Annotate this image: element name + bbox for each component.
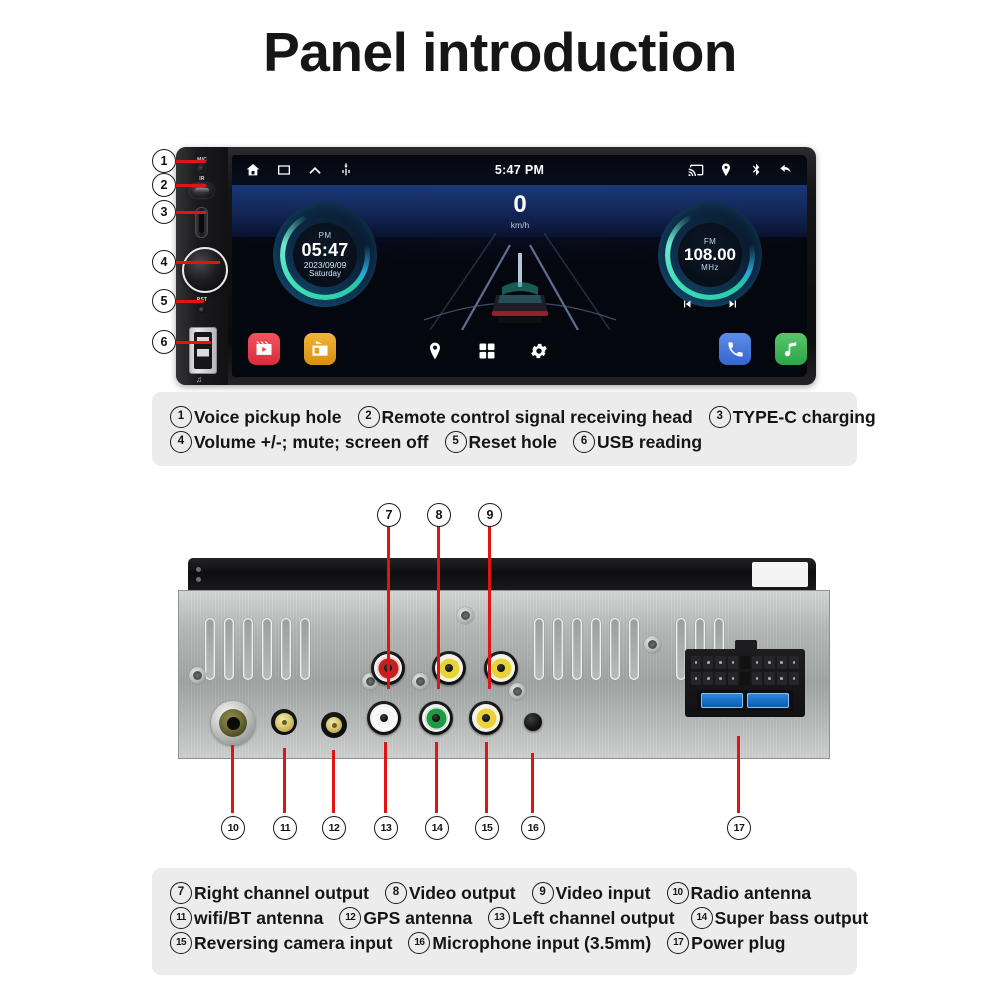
leader-15 — [485, 742, 488, 813]
caption-num-2: 2 — [358, 406, 380, 428]
caption-item-8: 8 Video output — [385, 882, 516, 904]
rear-caption-line-3: 15 Reversing camera input 16 Microphone … — [170, 932, 839, 954]
leader-5 — [176, 300, 204, 303]
leader-1 — [176, 160, 206, 163]
rear-top-strip — [188, 558, 816, 591]
music-app-icon[interactable] — [775, 333, 807, 365]
radio-widget[interactable]: FM 108.00 MHz — [658, 203, 762, 307]
app-dock — [232, 319, 807, 377]
clock-meridiem: PM — [319, 232, 332, 240]
caption-num-5: 5 — [445, 431, 467, 453]
callout-9: 9 — [478, 503, 502, 527]
leader-14 — [435, 742, 438, 813]
callout-15: 15 — [475, 816, 499, 840]
callout-14: 14 — [425, 816, 449, 840]
callout-12: 12 — [322, 816, 346, 840]
rca-ring-yellow — [438, 657, 461, 680]
rear-caption-line-2: 11 wifi/BT antenna 12 GPS antenna 13 Lef… — [170, 907, 839, 929]
radio-antenna-jack — [211, 701, 255, 745]
caption-text-14: Super bass output — [715, 908, 869, 929]
leader-4 — [176, 261, 220, 264]
caption-text-1: Voice pickup hole — [194, 407, 342, 428]
front-caption-box: 1 Voice pickup hole 2 Remote control sig… — [152, 392, 857, 466]
grid-apps-icon[interactable] — [477, 341, 497, 361]
chassis-screw — [189, 667, 206, 684]
callout-7: 7 — [377, 503, 401, 527]
caption-text-2: Remote control signal receiving head — [382, 407, 693, 428]
radio-core: FM 108.00 MHz — [678, 223, 742, 287]
head-unit-screen[interactable]: 5:47 PM PM 05:47 2023/09/09 Saturday 0 — [232, 155, 807, 377]
chassis-screw — [509, 683, 526, 700]
vent-slot — [591, 618, 601, 680]
vent-group-center — [534, 618, 639, 680]
chassis-screw — [644, 636, 661, 653]
vent-slot — [224, 618, 234, 680]
fuse — [747, 693, 789, 708]
caption-item-6: 6 USB reading — [573, 431, 702, 453]
radio-app-icon[interactable] — [304, 333, 336, 365]
caption-num-3: 3 — [709, 406, 731, 428]
caption-item-17: 17 Power plug — [667, 932, 785, 954]
location-pin-icon[interactable] — [425, 341, 445, 361]
voice-pickup-hole — [198, 165, 205, 172]
caption-text-7: Right channel output — [194, 883, 369, 904]
leader-12 — [332, 750, 335, 813]
vent-slot — [534, 618, 544, 680]
callout-16: 16 — [521, 816, 545, 840]
caption-text-9: Video input — [556, 883, 651, 904]
usb-port — [189, 327, 217, 374]
leader-7 — [387, 525, 390, 689]
caption-item-13: 13 Left channel output — [488, 907, 674, 929]
front-caption-line-1: 1 Voice pickup hole 2 Remote control sig… — [170, 406, 839, 428]
rca-ring-yellow — [490, 657, 513, 680]
caption-num-15: 15 — [170, 932, 192, 954]
caption-item-3: 3 TYPE-C charging — [709, 406, 876, 428]
caption-item-1: 1 Voice pickup hole — [170, 406, 342, 428]
reversing-camera-rca — [469, 701, 503, 735]
caption-item-4: 4 Volume +/-; mute; screen off — [170, 431, 429, 453]
speed-widget: 0 km/h — [465, 193, 575, 230]
caption-item-15: 15 Reversing camera input — [170, 932, 392, 954]
music-note-icon: ♫ — [196, 375, 202, 384]
radio-unit: MHz — [701, 264, 719, 272]
video-app-icon[interactable] — [248, 333, 280, 365]
speed-unit: km/h — [465, 220, 575, 230]
radio-icon — [310, 339, 330, 359]
strip-dot-a — [196, 567, 201, 572]
vent-slot — [262, 618, 272, 680]
power-plug-fuse-bay — [697, 690, 793, 711]
caption-text-3: TYPE-C charging — [733, 407, 876, 428]
super-bass-rca — [419, 701, 453, 735]
skip-next-icon[interactable] — [727, 298, 739, 310]
caption-item-12: 12 GPS antenna — [339, 907, 472, 929]
wifi-bt-antenna-jack — [271, 709, 297, 735]
leader-16 — [531, 753, 534, 813]
vent-slot — [610, 618, 620, 680]
vent-slot — [281, 618, 291, 680]
caption-item-14: 14 Super bass output — [691, 907, 869, 929]
road-car-graphic — [422, 225, 618, 330]
caption-text-12: GPS antenna — [363, 908, 472, 929]
rear-chassis — [178, 590, 830, 759]
leader-13 — [384, 742, 387, 813]
leader-9 — [488, 525, 491, 689]
caption-text-8: Video output — [409, 883, 516, 904]
gps-antenna-jack — [321, 712, 347, 738]
rca-ring-white — [373, 707, 396, 730]
caption-text-5: Reset hole — [469, 432, 558, 453]
vent-slot — [205, 618, 215, 680]
caption-num-6: 6 — [573, 431, 595, 453]
strip-white-tab — [752, 562, 808, 587]
rear-caption-line-1: 7 Right channel output 8 Video output 9 … — [170, 882, 839, 904]
vent-group-left — [205, 618, 310, 680]
leader-8 — [437, 525, 440, 689]
callout-1: 1 — [152, 149, 176, 173]
caption-item-9: 9 Video input — [532, 882, 651, 904]
caption-num-9: 9 — [532, 882, 554, 904]
phone-app-icon[interactable] — [719, 333, 751, 365]
left-channel-rca — [367, 701, 401, 735]
front-caption-line-2: 4 Volume +/-; mute; screen off 5 Reset h… — [170, 431, 839, 453]
power-plug-row-top — [691, 656, 799, 669]
caption-num-11: 11 — [170, 907, 192, 929]
caption-text-6: USB reading — [597, 432, 702, 453]
callout-8: 8 — [427, 503, 451, 527]
speed-value: 0 — [465, 193, 575, 217]
front-unit-photo: MIC IR RST ♫ 5:47 PM — [176, 147, 816, 385]
vent-slot — [300, 618, 310, 680]
caption-text-10: Radio antenna — [691, 883, 812, 904]
caption-item-16: 16 Microphone input (3.5mm) — [408, 932, 651, 954]
callout-6: 6 — [152, 330, 176, 354]
volume-knob[interactable] — [182, 247, 228, 293]
clock-time: 05:47 — [301, 241, 348, 260]
skip-previous-icon[interactable] — [681, 298, 693, 310]
vent-slot — [629, 618, 639, 680]
callout-11: 11 — [273, 816, 297, 840]
callout-4: 4 — [152, 250, 176, 274]
caption-num-14: 14 — [691, 907, 713, 929]
caption-num-16: 16 — [408, 932, 430, 954]
chassis-screw — [412, 673, 429, 690]
caption-num-4: 4 — [170, 431, 192, 453]
radio-frequency: 108.00 — [684, 246, 736, 264]
reset-hole — [199, 307, 205, 313]
clock-weekday: Saturday — [309, 270, 341, 278]
video-clapper-icon — [254, 339, 274, 359]
caption-num-7: 7 — [170, 882, 192, 904]
caption-text-11: wifi/BT antenna — [194, 908, 323, 929]
leader-6 — [176, 341, 211, 344]
caption-num-1: 1 — [170, 406, 192, 428]
callout-10: 10 — [221, 816, 245, 840]
callout-5: 5 — [152, 289, 176, 313]
caption-num-12: 12 — [339, 907, 361, 929]
caption-text-13: Left channel output — [512, 908, 674, 929]
status-bar: 5:47 PM — [232, 155, 807, 185]
caption-num-8: 8 — [385, 882, 407, 904]
leader-2 — [176, 184, 206, 187]
leader-11 — [283, 748, 286, 813]
caption-item-10: 10 Radio antenna — [667, 882, 812, 904]
caption-item-5: 5 Reset hole — [445, 431, 558, 453]
rear-caption-box: 7 Right channel output 8 Video output 9 … — [152, 868, 857, 975]
caption-num-13: 13 — [488, 907, 510, 929]
caption-item-2: 2 Remote control signal receiving head — [358, 406, 693, 428]
leader-3 — [176, 211, 206, 214]
callout-2: 2 — [152, 173, 176, 197]
ir-label: IR — [189, 176, 215, 182]
leader-17 — [737, 736, 740, 813]
callout-3: 3 — [152, 200, 176, 224]
leader-10 — [231, 745, 234, 813]
rear-unit-photo — [178, 558, 828, 793]
clock-widget[interactable]: PM 05:47 2023/09/09 Saturday — [273, 203, 377, 307]
rca-ring-yellow — [475, 707, 498, 730]
caption-text-17: Power plug — [691, 933, 785, 954]
vent-slot — [553, 618, 563, 680]
caption-text-4: Volume +/-; mute; screen off — [194, 432, 429, 453]
clock-core: PM 05:47 2023/09/09 Saturday — [293, 223, 357, 287]
caption-num-10: 10 — [667, 882, 689, 904]
chassis-screw — [457, 607, 474, 624]
phone-icon — [726, 340, 745, 359]
rca-ring-green — [425, 707, 448, 730]
power-plug-row-bottom — [691, 672, 799, 685]
caption-num-17: 17 — [667, 932, 689, 954]
power-plug — [685, 649, 805, 717]
microphone-jack — [524, 713, 542, 731]
fuse — [701, 693, 743, 708]
caption-item-7: 7 Right channel output — [170, 882, 369, 904]
power-plug-notch — [735, 640, 757, 650]
callout-17: 17 — [727, 816, 751, 840]
gear-icon[interactable] — [529, 341, 549, 361]
callout-13: 13 — [374, 816, 398, 840]
caption-item-11: 11 wifi/BT antenna — [170, 907, 323, 929]
caption-text-15: Reversing camera input — [194, 933, 392, 954]
vent-slot — [243, 618, 253, 680]
page-title: Panel introduction — [0, 20, 1000, 84]
status-bar-time: 5:47 PM — [232, 163, 807, 177]
caption-text-16: Microphone input (3.5mm) — [432, 933, 651, 954]
strip-dot-b — [196, 577, 201, 582]
vent-slot — [572, 618, 582, 680]
music-note-icon — [782, 340, 800, 358]
